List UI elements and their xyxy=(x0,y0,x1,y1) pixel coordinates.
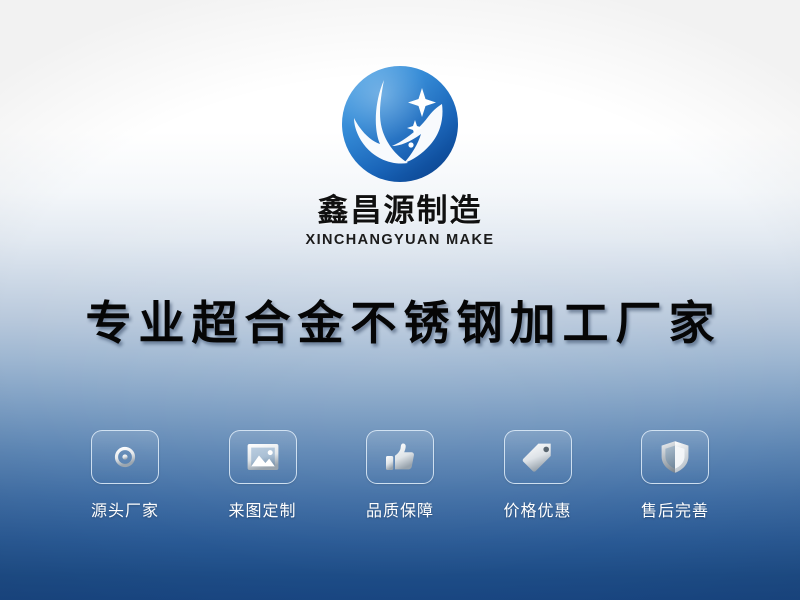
crosshair-target-icon xyxy=(108,440,142,474)
feature-item[interactable]: 源头厂家 xyxy=(70,430,180,521)
feature-item[interactable]: 价格优惠 xyxy=(483,430,593,521)
picture-image-icon xyxy=(246,442,280,472)
price-tag-icon xyxy=(522,441,554,473)
feature-badge[interactable] xyxy=(91,430,159,484)
sparkle-small-icon xyxy=(408,142,413,147)
banner-root: 鑫昌源制造 XINCHANGYUAN MAKE 专业超合金不锈钢加工厂家 xyxy=(0,0,800,600)
logo-block: 鑫昌源制造 XINCHANGYUAN MAKE xyxy=(0,62,800,248)
logo-company-name-en: XINCHANGYUAN MAKE xyxy=(0,232,800,248)
feature-label: 价格优惠 xyxy=(483,497,593,521)
feature-item[interactable]: 来图定制 xyxy=(208,430,318,521)
feature-label: 售后完善 xyxy=(620,497,730,521)
shield-icon xyxy=(660,440,690,474)
headline: 专业超合金不锈钢加工厂家 xyxy=(0,296,800,351)
feature-label: 来图定制 xyxy=(208,497,318,521)
feature-badge[interactable] xyxy=(641,430,709,484)
thumbs-up-icon xyxy=(384,441,416,473)
feature-list: 源头厂家 来图定制 xyxy=(70,430,730,521)
feature-item[interactable]: 售后完善 xyxy=(620,430,730,521)
feature-badge[interactable] xyxy=(504,430,572,484)
swoosh-circle-logo xyxy=(338,62,462,186)
feature-badge[interactable] xyxy=(229,430,297,484)
feature-item[interactable]: 品质保障 xyxy=(345,430,455,521)
logo-company-name-cn: 鑫昌源制造 xyxy=(0,194,800,228)
feature-label: 品质保障 xyxy=(345,497,455,521)
feature-label: 源头厂家 xyxy=(70,497,180,521)
feature-badge[interactable] xyxy=(366,430,434,484)
